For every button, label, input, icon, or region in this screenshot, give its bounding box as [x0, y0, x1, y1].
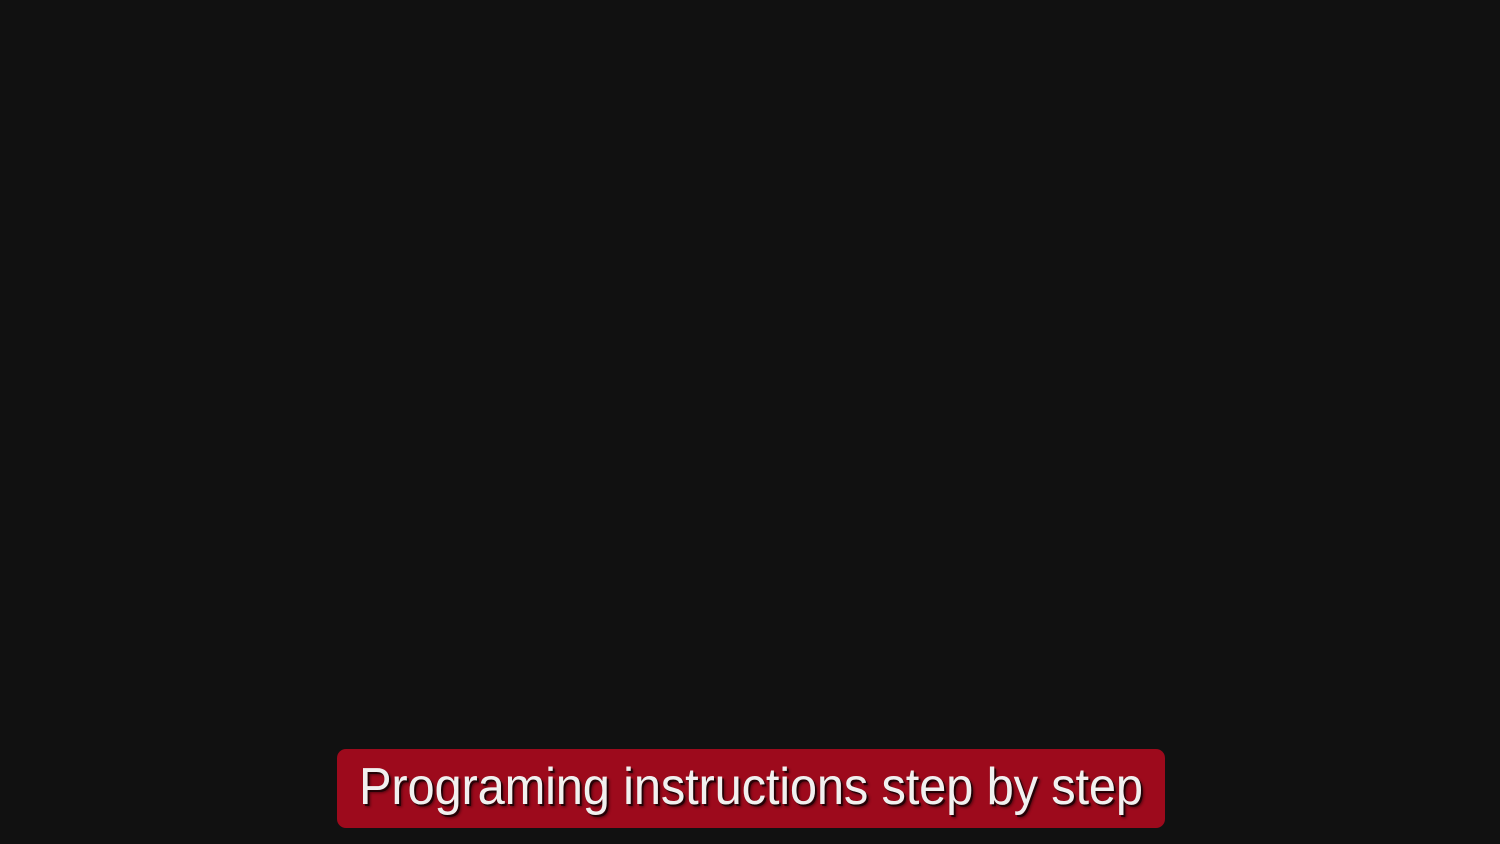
caption-banner[interactable]: Programing instructions step by step — [337, 749, 1165, 828]
video-viewport[interactable] — [0, 0, 1500, 844]
caption-text: Programing instructions step by step — [359, 761, 1143, 816]
screen-root: Programing instructions step by step — [0, 0, 1500, 844]
